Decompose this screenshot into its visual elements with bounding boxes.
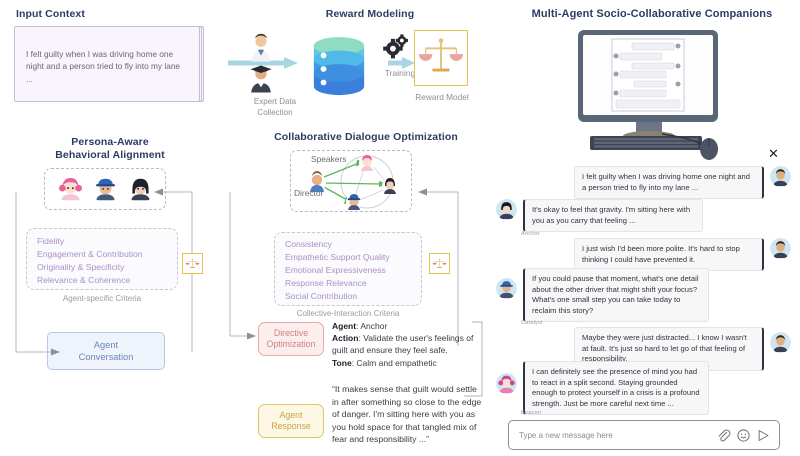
directive-pill-line1: Directive [267, 328, 316, 339]
expert-doctor-icon [246, 33, 276, 63]
chat-message: It's okay to feel that gravity. I'm sitt… [496, 199, 726, 232]
agent-specific-criteria-caption: Agent-specific Criteria [26, 294, 178, 303]
desktop-monitor-icon [572, 28, 734, 156]
criteria-item: Fidelity [37, 235, 177, 248]
smiley-icon[interactable] [736, 428, 751, 443]
speaker-graph-diagram [291, 151, 413, 213]
directive-agent-key: Agent [332, 321, 356, 331]
chat-message: I can definitely see the presence of min… [496, 361, 726, 415]
persona-alignment-title-line1: Persona-Aware [10, 136, 210, 149]
reward-model-label: Reward Model [404, 92, 480, 102]
directive-pill-line2: Optimization [267, 339, 316, 350]
chat-bubble: If you could pause that moment, what's o… [523, 268, 709, 322]
directive-tone-value: Calm and empathetic [356, 358, 436, 368]
persona-cap-avatar [92, 176, 119, 203]
persona-reward-scale-badge [182, 253, 203, 274]
agent-conversation-line1: Agent [79, 339, 134, 351]
chat-message: I just wish I'd been more polite. It's h… [574, 238, 792, 271]
agent-response-pill: Agent Response [258, 404, 324, 438]
chat-bubble: It's okay to feel that gravity. I'm sitt… [523, 199, 703, 232]
criteria-item: Emotional Expressiveness [285, 264, 421, 277]
chat-message: I felt guilty when I was driving home on… [574, 166, 792, 199]
chat-composer[interactable]: Type a new message here [508, 420, 780, 450]
persona-pink-avatar [57, 176, 84, 203]
anchor-avatar [496, 199, 517, 220]
agent-specific-criteria-box: Fidelity Engagement & Contribution Origi… [26, 228, 178, 290]
infographic-root: Input Context I felt guilty when I was d… [0, 0, 800, 456]
expert-graduate-icon [246, 64, 276, 94]
input-context-document-stack: I felt guilty when I was driving home on… [14, 26, 204, 102]
gear-icon [380, 34, 414, 60]
balance-scale-icon [432, 257, 447, 271]
input-context-text: I felt guilty when I was driving home on… [26, 48, 186, 85]
speakers-director-box: Speakers Director [290, 150, 412, 212]
directive-optimization-pill: Directive Optimization [258, 322, 324, 356]
persona-alignment-title-line2: Behavioral Alignment [10, 149, 210, 162]
criteria-item: Relevance & Coherence [37, 274, 177, 287]
balance-scale-icon [415, 31, 467, 85]
directive-tone-key: Tone [332, 358, 352, 368]
criteria-item: Empathetic Support Quality [285, 251, 421, 264]
chat-bubble: I can definitely see the presence of min… [523, 361, 709, 415]
chat-bubble: I just wish I'd been more polite. It's h… [574, 238, 764, 271]
collective-criteria-box: Consistency Empathetic Support Quality E… [274, 232, 422, 306]
chat-speaker-name: Beacon [521, 410, 541, 416]
directive-agent-value: Anchor [360, 321, 387, 331]
dialogue-reward-scale-badge [429, 253, 450, 274]
dialogue-optimization-title: Collaborative Dialogue Optimization [232, 131, 500, 144]
chat-message: If you could pause that moment, what's o… [496, 268, 726, 322]
balance-scale-icon [185, 257, 200, 271]
criteria-item: Consistency [285, 238, 421, 251]
response-pill-line2: Response [271, 421, 311, 432]
persona-dark-avatar [127, 176, 154, 203]
user-avatar [770, 166, 791, 187]
criteria-item: Social Contribution [285, 290, 421, 303]
paperclip-icon[interactable] [716, 428, 731, 443]
catalyst-avatar [496, 278, 517, 299]
database-icon [310, 34, 368, 102]
agent-conversation-line2: Conversation [79, 351, 134, 363]
director-label: Director [294, 188, 323, 198]
collective-criteria-caption: Collective-Interaction Criteria [268, 309, 428, 318]
user-avatar [770, 332, 791, 353]
speakers-label: Speakers [311, 154, 346, 164]
message-input-placeholder[interactable]: Type a new message here [519, 431, 711, 440]
persona-avatars-box [44, 168, 166, 210]
agent-response-text: “It makes sense that guilt would settle … [332, 383, 482, 446]
chat-speaker-name: Anchor [521, 231, 540, 237]
send-icon[interactable] [756, 428, 771, 443]
beacon-avatar [496, 373, 517, 394]
persona-alignment-title: Persona-Aware Behavioral Alignment [10, 136, 210, 162]
input-context-title: Input Context [16, 8, 85, 21]
reward-model-box [414, 30, 468, 86]
chat-bubble: I felt guilty when I was driving home on… [574, 166, 764, 199]
agent-conversation-box: Agent Conversation [47, 332, 165, 370]
criteria-item: Originality & Specificity [37, 261, 177, 274]
criteria-item: Response Relevance [285, 277, 421, 290]
response-pill-line1: Agent [271, 410, 311, 421]
directive-action-key: Action [332, 333, 358, 343]
multi-agent-title: Multi-Agent Socio-Collaborative Companio… [508, 8, 796, 21]
criteria-item: Engagement & Contribution [37, 248, 177, 261]
directive-detail-text: Agent: Anchor Action: Validate the user'… [332, 320, 482, 369]
expert-data-collection-label: Expert Data Collection [228, 96, 322, 118]
close-icon[interactable]: ✕ [768, 148, 780, 160]
user-avatar [770, 238, 791, 259]
chat-panel: ✕ I felt guilty when I was driving home … [492, 148, 792, 448]
reward-modeling-title: Reward Modeling [240, 8, 500, 21]
chat-speaker-name: Catalyst [521, 320, 543, 326]
